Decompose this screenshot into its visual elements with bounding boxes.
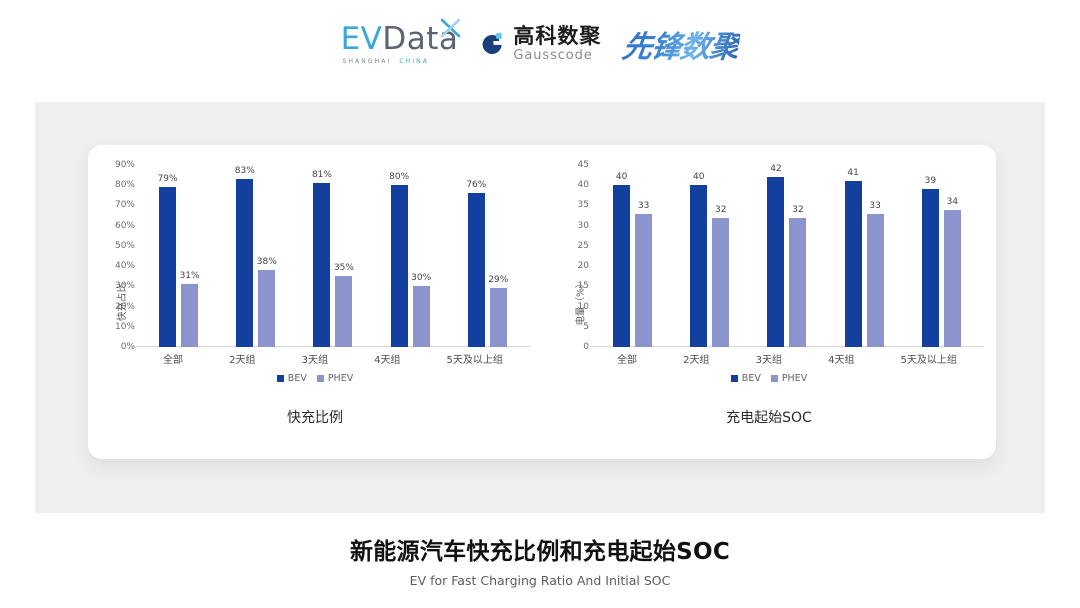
- bar-value-label: 40: [616, 172, 627, 182]
- chart-initial-soc: 电量（%） 45 40 35 30 25 20 15 10 5 0 40: [542, 145, 996, 459]
- bar-value-label: 31%: [180, 271, 200, 281]
- y-tick: 50%: [115, 241, 135, 251]
- bar-group: 76% 29%: [468, 165, 507, 347]
- bar-group: 39 34: [922, 165, 961, 347]
- legend-swatch-phev: [771, 375, 778, 382]
- chart-title-right: 充电起始SOC: [542, 407, 996, 427]
- bar-value-label: 29%: [488, 275, 508, 285]
- legend-label-bev: BEV: [288, 373, 307, 384]
- y-tick: 35: [578, 200, 589, 210]
- bar-value-label: 42: [770, 164, 781, 174]
- bar-bev[interactable]: 41: [845, 181, 862, 347]
- bar-value-label: 39: [925, 176, 936, 186]
- bar-phev[interactable]: 31%: [181, 284, 198, 347]
- plot-area-right: 45 40 35 30 25 20 15 10 5 0 40 33: [594, 165, 980, 347]
- legend-label-bev: BEV: [742, 373, 761, 384]
- legend-swatch-bev: [277, 375, 284, 382]
- gausscode-en: Gausscode: [513, 49, 601, 62]
- x-tick-label: 2天组: [683, 351, 709, 366]
- bar-phev[interactable]: 38%: [258, 270, 275, 347]
- bar-group: 42 32: [767, 165, 806, 347]
- y-tick: 5: [583, 322, 589, 332]
- bar-bev[interactable]: 83%: [236, 179, 253, 347]
- bar-value-label: 30%: [411, 273, 431, 283]
- x-tick-label: 4天组: [374, 351, 400, 366]
- y-tick: 0: [583, 342, 589, 352]
- bar-value-label: 34: [947, 197, 958, 207]
- y-tick: 15: [578, 281, 589, 291]
- bar-value-label: 32: [792, 205, 803, 215]
- bar-value-label: 80%: [389, 172, 409, 182]
- x-tick-label: 2天组: [229, 351, 255, 366]
- bar-value-label: 33: [638, 201, 649, 211]
- bar-bev[interactable]: 39: [922, 189, 939, 347]
- bar-value-label: 33: [869, 201, 880, 211]
- bar-group: 80% 30%: [391, 165, 430, 347]
- evdata-sub-left: SHANGHAI: [343, 58, 392, 65]
- bar-phev[interactable]: 33: [635, 214, 652, 347]
- y-tick: 40%: [115, 261, 135, 271]
- legend-swatch-phev: [317, 375, 324, 382]
- logo-gausscode: 高科数聚 Gausscode: [480, 26, 601, 62]
- bar-phev[interactable]: 34: [944, 210, 961, 348]
- y-tick: 10%: [115, 322, 135, 332]
- y-tick: 60%: [115, 221, 135, 231]
- bar-value-label: 32: [715, 205, 726, 215]
- evdata-sub-right: CHINA: [399, 58, 429, 65]
- y-tick: 25: [578, 241, 589, 251]
- bar-bev[interactable]: 80%: [391, 185, 408, 347]
- logo-xianfeng: 先锋数聚: [620, 22, 742, 66]
- x-tick-label: 4天组: [828, 351, 854, 366]
- bar-phev[interactable]: 29%: [490, 288, 507, 347]
- plot-area-left: 90% 80% 70% 60% 50% 40% 30% 20% 10% 0% 7…: [140, 165, 526, 347]
- charts-container: 快充占比 90% 80% 70% 60% 50% 40% 30% 20% 10%…: [88, 145, 996, 459]
- bar-phev[interactable]: 33: [867, 214, 884, 347]
- gausscode-text: 高科数聚 Gausscode: [513, 26, 601, 62]
- x-cross-icon: [440, 18, 462, 38]
- legend-label-phev: PHEV: [328, 373, 353, 384]
- legend-right: BEV PHEV: [542, 373, 996, 384]
- evdata-sublabel: SHANGHAI CHINA: [343, 58, 429, 65]
- y-tick: 20%: [115, 302, 135, 312]
- x-axis-labels-left: 全部 2天组 3天组 4天组 5天及以上组: [140, 351, 526, 366]
- bar-bev[interactable]: 42: [767, 177, 784, 347]
- legend-item-bev[interactable]: BEV: [277, 373, 307, 384]
- bar-bev[interactable]: 79%: [159, 187, 176, 347]
- gausscode-circle-icon: [480, 31, 506, 57]
- y-tick: 10: [578, 302, 589, 312]
- y-tick: 70%: [115, 200, 135, 210]
- chart-title-left: 快充比例: [88, 407, 542, 427]
- x-tick-label: 全部: [617, 351, 637, 366]
- y-tick: 80%: [115, 180, 135, 190]
- bar-value-label: 76%: [466, 180, 486, 190]
- bar-groups-left: 79% 31% 83% 38% 81% 35% 80%: [140, 165, 526, 347]
- bar-groups-right: 40 33 40 32 42 32 41 33: [594, 165, 980, 347]
- slide-root: EVData SHANGHAI CHINA 高科数聚 Gausscode 先锋数…: [0, 0, 1080, 608]
- y-tick: 30: [578, 221, 589, 231]
- legend-swatch-bev: [731, 375, 738, 382]
- y-tick: 90%: [115, 160, 135, 170]
- bar-bev[interactable]: 40: [690, 185, 707, 347]
- bar-group: 41 33: [845, 165, 884, 347]
- charts-card: 快充占比 90% 80% 70% 60% 50% 40% 30% 20% 10%…: [88, 145, 996, 459]
- legend-item-phev[interactable]: PHEV: [771, 373, 807, 384]
- x-tick-label: 全部: [163, 351, 183, 366]
- logo-bar: EVData SHANGHAI CHINA 高科数聚 Gausscode 先锋数…: [0, 22, 1080, 66]
- legend-label-phev: PHEV: [782, 373, 807, 384]
- bar-phev[interactable]: 32: [789, 218, 806, 347]
- bar-bev[interactable]: 81%: [313, 183, 330, 347]
- y-tick: 20: [578, 261, 589, 271]
- bar-group: 79% 31%: [159, 165, 198, 347]
- bar-value-label: 40: [693, 172, 704, 182]
- bar-value-label: 83%: [235, 166, 255, 176]
- bar-phev[interactable]: 32: [712, 218, 729, 347]
- y-tick: 0%: [121, 342, 135, 352]
- bar-group: 40 32: [690, 165, 729, 347]
- legend-item-phev[interactable]: PHEV: [317, 373, 353, 384]
- bar-bev[interactable]: 40: [613, 185, 630, 347]
- bar-value-label: 81%: [312, 170, 332, 180]
- chart-fast-charging-ratio: 快充占比 90% 80% 70% 60% 50% 40% 30% 20% 10%…: [88, 145, 542, 459]
- bar-phev[interactable]: 30%: [413, 286, 430, 347]
- bar-phev[interactable]: 35%: [335, 276, 352, 347]
- x-axis-labels-right: 全部 2天组 3天组 4天组 5天及以上组: [594, 351, 980, 366]
- x-tick-label: 3天组: [756, 351, 782, 366]
- bar-group: 40 33: [613, 165, 652, 347]
- page-title-en: EV for Fast Charging Ratio And Initial S…: [0, 573, 1080, 588]
- legend-left: BEV PHEV: [88, 373, 542, 384]
- bar-value-label: 79%: [158, 174, 178, 184]
- y-tick: 45: [578, 160, 589, 170]
- logo-evdata: EVData SHANGHAI CHINA: [341, 24, 459, 65]
- bar-group: 81% 35%: [313, 165, 352, 347]
- bar-bev[interactable]: 76%: [468, 193, 485, 347]
- y-tick: 30%: [115, 281, 135, 291]
- x-tick-label: 5天及以上组: [447, 351, 503, 366]
- gausscode-cn: 高科数聚: [513, 26, 601, 47]
- x-tick-label: 3天组: [302, 351, 328, 366]
- y-tick: 40: [578, 180, 589, 190]
- bar-group: 83% 38%: [236, 165, 275, 347]
- bar-value-label: 35%: [334, 263, 354, 273]
- footer: 新能源汽车快充比例和充电起始SOC EV for Fast Charging R…: [0, 532, 1080, 588]
- legend-item-bev[interactable]: BEV: [731, 373, 761, 384]
- bar-value-label: 41: [847, 168, 858, 178]
- bar-value-label: 38%: [257, 257, 277, 267]
- page-title-cn: 新能源汽车快充比例和充电起始SOC: [0, 532, 1080, 566]
- x-tick-label: 5天及以上组: [901, 351, 957, 366]
